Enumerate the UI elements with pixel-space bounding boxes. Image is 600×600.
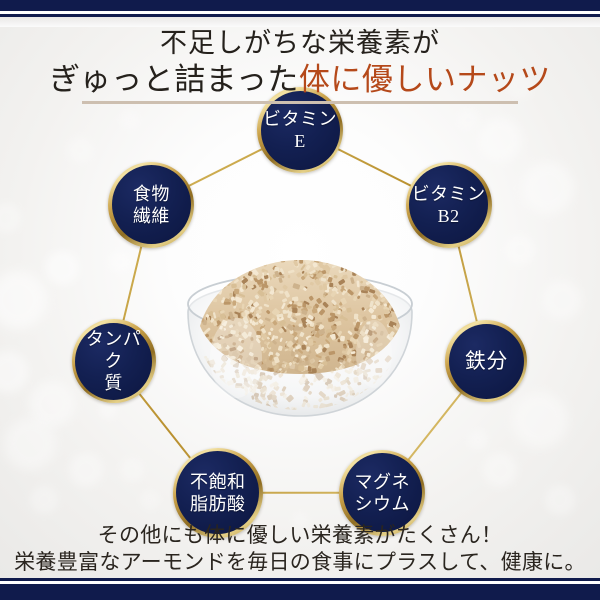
nutrient-node-inner: 食物繊維 [112, 165, 191, 244]
nutrient-label-dietary-fiber: 食物繊維 [131, 183, 172, 227]
nutrient-node-dietary-fiber[interactable]: 食物繊維 [108, 162, 194, 248]
title-line-1: 不足しがちな栄養素が [0, 26, 600, 60]
nutrient-label-line: 脂肪酸 [190, 493, 246, 515]
nutrient-label-line: E [263, 130, 337, 152]
title-line-2-plain: ぎゅっと詰まった [49, 62, 299, 97]
nutrient-label-vitamin-e: ビタミンE [261, 108, 339, 152]
nutrient-node-vitamin-e[interactable]: ビタミンE [257, 87, 343, 173]
bowl-of-chopped-almonds [178, 238, 422, 424]
footer-line-1: その他にも体に優しい栄養素がたくさん！ [0, 522, 600, 549]
nutrient-label-line: シウム [355, 493, 411, 515]
nutrient-node-inner: タンパク質 [75, 323, 152, 400]
top-frame-bar [0, 0, 600, 11]
title-underline [82, 101, 518, 104]
nutrient-label-line: ビタミン [412, 183, 486, 205]
nutrient-label-magnesium: マグネシウム [353, 471, 413, 515]
nutrient-label-iron: 鉄分 [463, 349, 510, 374]
nutrient-node-inner: 鉄分 [449, 324, 524, 399]
nutrient-label-vitamin-b2: ビタミンB2 [410, 183, 488, 227]
title-line-2-accent: 体に優しいナッツ [299, 62, 551, 97]
title-line-2: ぎゅっと詰まった体に優しいナッツ [0, 60, 600, 99]
footer-line-2: 栄養豊富なアーモンドを毎日の食事にプラスして、健康に。 [0, 549, 600, 576]
nutrient-node-protein[interactable]: タンパク質 [72, 319, 156, 403]
bottom-frame-bar [0, 584, 600, 600]
nutrient-node-inner: ビタミンB2 [409, 165, 488, 244]
nutrient-label-line: B2 [412, 205, 486, 227]
nutrient-label-line: 鉄分 [465, 349, 508, 374]
top-frame-thin-bar [0, 14, 600, 17]
infographic-page: 不足しがちな栄養素が ぎゅっと詰まった体に優しいナッツ [0, 0, 600, 600]
nutrient-label-line: ビタミン [263, 108, 337, 130]
nutrient-label-line: 繊維 [133, 205, 170, 227]
nutrient-label-line: マグネ [355, 471, 411, 493]
nutrient-label-line: 不飽和 [190, 471, 246, 493]
header-fade [0, 17, 600, 27]
footer-text: その他にも体に優しい栄養素がたくさん！ 栄養豊富なアーモンドを毎日の食事にプラス… [0, 522, 600, 576]
nutrient-label-unsaturated-fat: 不飽和脂肪酸 [188, 471, 248, 515]
page-title: 不足しがちな栄養素が ぎゅっと詰まった体に優しいナッツ [0, 26, 600, 99]
nutrient-label-line: タンパク [77, 328, 150, 372]
nutrient-node-vitamin-b2[interactable]: ビタミンB2 [406, 162, 492, 248]
nutrient-node-iron[interactable]: 鉄分 [445, 320, 527, 402]
nutrient-label-protein: タンパク質 [75, 328, 152, 394]
nutrient-label-line: 質 [77, 372, 150, 394]
nutrient-node-inner: マグネシウム [343, 453, 422, 532]
nutrient-label-line: 食物 [133, 183, 170, 205]
